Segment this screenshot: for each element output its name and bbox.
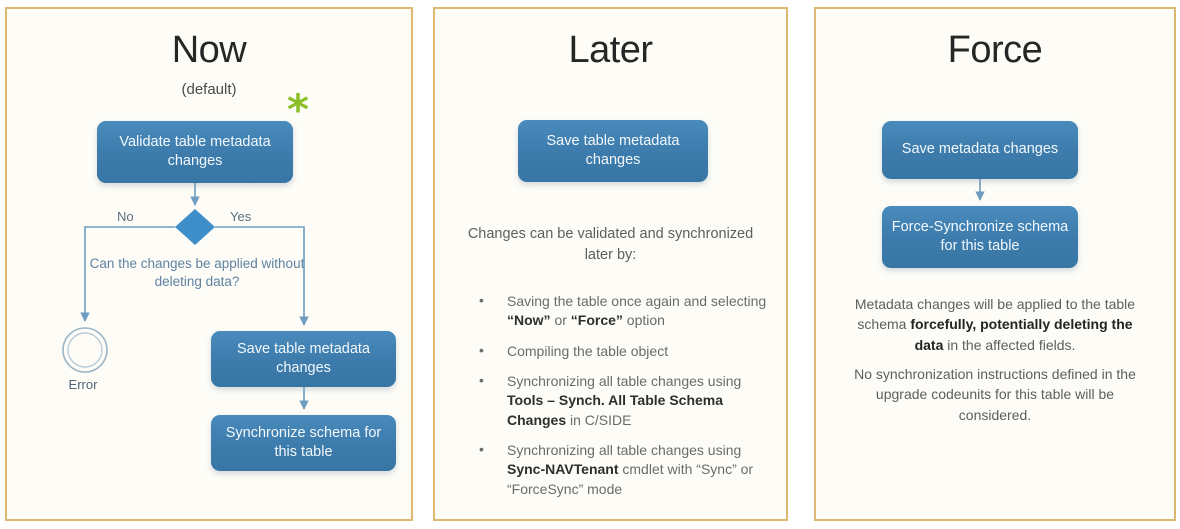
slide-canvas: Now (default) * <box>0 0 1180 529</box>
force-paragraph-1: Metadata changes will be applied to the … <box>842 294 1148 355</box>
process-box-save-metadata-now[interactable]: Save table metadata changes <box>211 331 396 387</box>
flow-label-yes: Yes <box>230 209 251 224</box>
process-box-save-metadata-later[interactable]: Save table metadata changes <box>518 120 708 182</box>
panel-now-title: Now <box>7 29 411 72</box>
flow-label-no: No <box>117 209 134 224</box>
decision-question: Can the changes be applied without delet… <box>67 255 327 291</box>
panel-now-subtitle: (default) <box>7 81 411 98</box>
end-node-label-error: Error <box>43 377 123 392</box>
later-intro-text: Changes can be validated and synchronize… <box>457 224 764 265</box>
list-item: Synchronizing all table changes using Sy… <box>465 441 768 499</box>
list-item: Synchronizing all table changes using To… <box>465 372 768 430</box>
panel-now: Now (default) * <box>5 7 413 521</box>
panel-later: Later Save table metadata changes Change… <box>433 7 788 521</box>
panel-force-title: Force <box>816 29 1174 72</box>
force-paragraph-2: No synchronization instructions defined … <box>842 364 1148 425</box>
process-box-synchronize-schema-now[interactable]: Synchronize schema for this table <box>211 415 396 471</box>
process-box-save-metadata-force[interactable]: Save metadata changes <box>882 121 1078 179</box>
panel-force: Force Save metadata changes Force-Synchr… <box>814 7 1176 521</box>
list-item: Saving the table once again and selectin… <box>465 292 768 331</box>
process-box-validate-metadata[interactable]: Validate table metadata changes <box>97 121 293 183</box>
process-box-force-synchronize-schema[interactable]: Force-Synchronize schema for this table <box>882 206 1078 268</box>
list-item: Compiling the table object <box>465 342 768 361</box>
later-bullet-list: Saving the table once again and selectin… <box>465 292 768 510</box>
panel-later-title: Later <box>435 29 786 72</box>
